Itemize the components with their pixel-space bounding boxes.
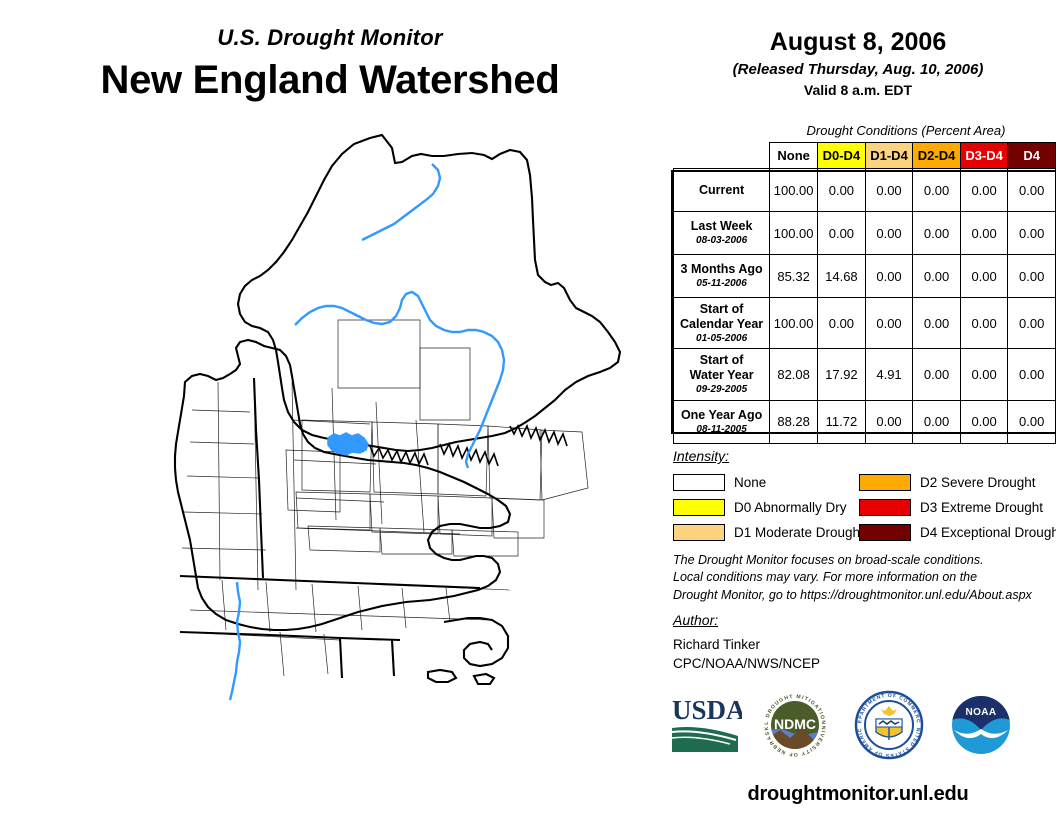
legend-title: Intensity:	[673, 448, 1053, 464]
info-panel: August 8, 2006 (Released Thursday, Aug. …	[660, 0, 1056, 816]
table-col-header-d3-d4: D3-D4	[960, 143, 1008, 169]
drought-map[interactable]	[40, 120, 660, 810]
legend-item: D2 Severe Drought	[859, 470, 1045, 495]
row-label-date: 05-11-2006	[676, 278, 767, 290]
table-cell: 0.00	[913, 169, 961, 212]
table-cell: 100.00	[770, 298, 818, 349]
table-header-row: NoneD0-D4D1-D4D2-D4D3-D4D4	[674, 143, 1056, 169]
legend-item: None	[673, 470, 859, 495]
author-name: Richard Tinker	[673, 635, 973, 654]
table-cell: 0.00	[818, 298, 866, 349]
table-row: 3 Months Ago05-11-200685.3214.680.000.00…	[674, 255, 1056, 298]
author-block: Author: Richard Tinker CPC/NOAA/NWS/NCEP	[673, 612, 973, 673]
legend-swatch	[859, 474, 911, 491]
table-cell: 88.28	[770, 400, 818, 443]
legend-swatch	[859, 499, 911, 516]
table-cell: 11.72	[818, 400, 866, 443]
table-cell: 0.00	[865, 298, 913, 349]
table-cell: 0.00	[1008, 212, 1056, 255]
program-title: U.S. Drought Monitor	[0, 26, 660, 50]
nantucket	[474, 674, 494, 684]
table-cell: 0.00	[913, 349, 961, 400]
table-row-label: 3 Months Ago05-11-2006	[674, 255, 770, 298]
report-date: August 8, 2006	[660, 28, 1056, 57]
legend-swatch	[859, 524, 911, 541]
legend-grid: NoneD2 Severe DroughtD0 Abnormally DryD3…	[673, 470, 1053, 545]
row-label-date: 01-05-2006	[676, 333, 767, 345]
row-label-text: 3 Months Ago	[681, 262, 763, 276]
table-cell: 0.00	[1008, 400, 1056, 443]
table-col-header-none: None	[770, 143, 818, 169]
table-col-header-d4: D4	[1008, 143, 1056, 169]
table-col-header-d0-d4: D0-D4	[818, 143, 866, 169]
drought-conditions-table: NoneD0-D4D1-D4D2-D4D3-D4D4 Current100.00…	[673, 142, 1056, 444]
row-label-date: 09-29-2005	[676, 384, 767, 396]
legend-label: D0 Abnormally Dry	[734, 500, 847, 515]
row-label-text: One Year Ago	[681, 408, 762, 422]
legend-swatch	[673, 524, 725, 541]
table-row: Start ofWater Year09-29-200582.0817.924.…	[674, 349, 1056, 400]
row-label-text: Start ofCalendar Year	[680, 302, 763, 331]
legend-item: D3 Extreme Drought	[859, 495, 1045, 520]
legend-swatch	[673, 499, 725, 516]
ct-ri-north-border	[180, 632, 400, 640]
table-cell: 100.00	[770, 212, 818, 255]
table-cell: 0.00	[960, 400, 1008, 443]
marthas-vineyard	[428, 670, 456, 682]
disclaimer-line-1: The Drought Monitor focuses on broad-sca…	[673, 552, 1053, 569]
legend-label: D2 Severe Drought	[920, 475, 1036, 490]
legend-label: D4 Exceptional Drought	[920, 525, 1056, 540]
table-cell: 0.00	[865, 212, 913, 255]
table-cell: 0.00	[865, 255, 913, 298]
disclaimer-line-2: Local conditions may vary. For more info…	[673, 569, 1053, 586]
cape-cod	[444, 618, 508, 666]
table-cell: 0.00	[913, 298, 961, 349]
table-cell: 0.00	[960, 298, 1008, 349]
map-land-fill	[175, 135, 620, 630]
table-row: Last Week08-03-2006100.000.000.000.000.0…	[674, 212, 1056, 255]
valid-time: Valid 8 a.m. EDT	[660, 82, 1056, 98]
table-cell: 0.00	[960, 212, 1008, 255]
usda-wordmark: USDA	[672, 695, 742, 725]
table-row-label: Start ofCalendar Year01-05-2006	[674, 298, 770, 349]
table-cell: 0.00	[1008, 255, 1056, 298]
table-cell: 14.68	[818, 255, 866, 298]
row-label-date: 08-11-2005	[676, 424, 767, 436]
table-corner-cell	[674, 143, 770, 169]
table-cell: 0.00	[1008, 349, 1056, 400]
ri-west-border	[340, 638, 342, 678]
row-label-date: 08-03-2006	[676, 235, 767, 247]
date-block: August 8, 2006 (Released Thursday, Aug. …	[660, 28, 1056, 98]
legend-item: D4 Exceptional Drought	[859, 520, 1045, 545]
table-cell: 4.91	[865, 349, 913, 400]
title-block: U.S. Drought Monitor New England Watersh…	[0, 26, 660, 103]
table-cell: 0.00	[913, 212, 961, 255]
disclaimer-text: The Drought Monitor focuses on broad-sca…	[673, 552, 1053, 604]
table-row: Start ofCalendar Year01-05-2006100.000.0…	[674, 298, 1056, 349]
author-label: Author:	[673, 612, 973, 628]
map-svg	[40, 120, 660, 810]
table-cell: 0.00	[818, 212, 866, 255]
noaa-logo: NOAA	[942, 686, 1020, 764]
table-row-label: Last Week08-03-2006	[674, 212, 770, 255]
table-cell: 82.08	[770, 349, 818, 400]
legend-item: D1 Moderate Drought	[673, 520, 859, 545]
ndmc-logo: NATIONAL DROUGHT MITIGATION CENTER UNIVE…	[756, 686, 834, 764]
table-cell: 0.00	[818, 169, 866, 212]
intensity-legend: Intensity: NoneD2 Severe DroughtD0 Abnor…	[673, 448, 1053, 545]
table-col-header-d1-d4: D1-D4	[865, 143, 913, 169]
usda-logo: USDA	[670, 694, 742, 756]
lake-winnipesaukee	[328, 433, 368, 455]
table-row: One Year Ago08-11-200588.2811.720.000.00…	[674, 400, 1056, 443]
table-row-label: One Year Ago08-11-2005	[674, 400, 770, 443]
release-date: (Released Thursday, Aug. 10, 2006)	[660, 61, 1056, 78]
row-label-text: Current	[699, 183, 744, 197]
table-cell: 0.00	[1008, 298, 1056, 349]
table-cell: 0.00	[913, 400, 961, 443]
disclaimer-line-3: Drought Monitor, go to https://droughtmo…	[673, 587, 1053, 604]
noaa-wordmark: NOAA	[965, 707, 996, 718]
table-cell: 0.00	[960, 169, 1008, 212]
table-cell: 0.00	[960, 349, 1008, 400]
legend-label: D3 Extreme Drought	[920, 500, 1043, 515]
table-cell: 0.00	[960, 255, 1008, 298]
logo-row: USDA NATIONAL DROUGHT MITIGATION CENTER …	[660, 684, 1056, 776]
table-row: Current100.000.000.000.000.000.00	[674, 169, 1056, 212]
page-title: New England Watershed	[0, 58, 660, 103]
table-cell: 0.00	[865, 169, 913, 212]
table-body: Current100.000.000.000.000.000.00Last We…	[674, 169, 1056, 444]
table-cell: 85.32	[770, 255, 818, 298]
legend-swatch	[673, 474, 725, 491]
table-cell: 0.00	[1008, 169, 1056, 212]
legend-item: D0 Abnormally Dry	[673, 495, 859, 520]
author-affiliation: CPC/NOAA/NWS/NCEP	[673, 654, 973, 673]
ri-east-border	[392, 640, 394, 676]
ndmc-wordmark: NDMC	[774, 716, 816, 732]
table-row-label: Start ofWater Year09-29-2005	[674, 349, 770, 400]
table-caption: Drought Conditions (Percent Area)	[756, 123, 1056, 138]
table-cell: 17.92	[818, 349, 866, 400]
row-label-text: Start ofWater Year	[690, 353, 754, 382]
table-cell: 100.00	[770, 169, 818, 212]
legend-label: None	[734, 475, 766, 490]
table-cell: 0.00	[913, 255, 961, 298]
row-label-text: Last Week	[691, 219, 753, 233]
table-cell: 0.00	[865, 400, 913, 443]
table-row-label: Current	[674, 169, 770, 212]
legend-label: D1 Moderate Drought	[734, 525, 864, 540]
usdc-seal-logo: DEPARTMENT OF COMMERCE UNITED STATES OF …	[850, 686, 928, 764]
site-url[interactable]: droughtmonitor.unl.edu	[660, 783, 1056, 806]
table-col-header-d2-d4: D2-D4	[913, 143, 961, 169]
